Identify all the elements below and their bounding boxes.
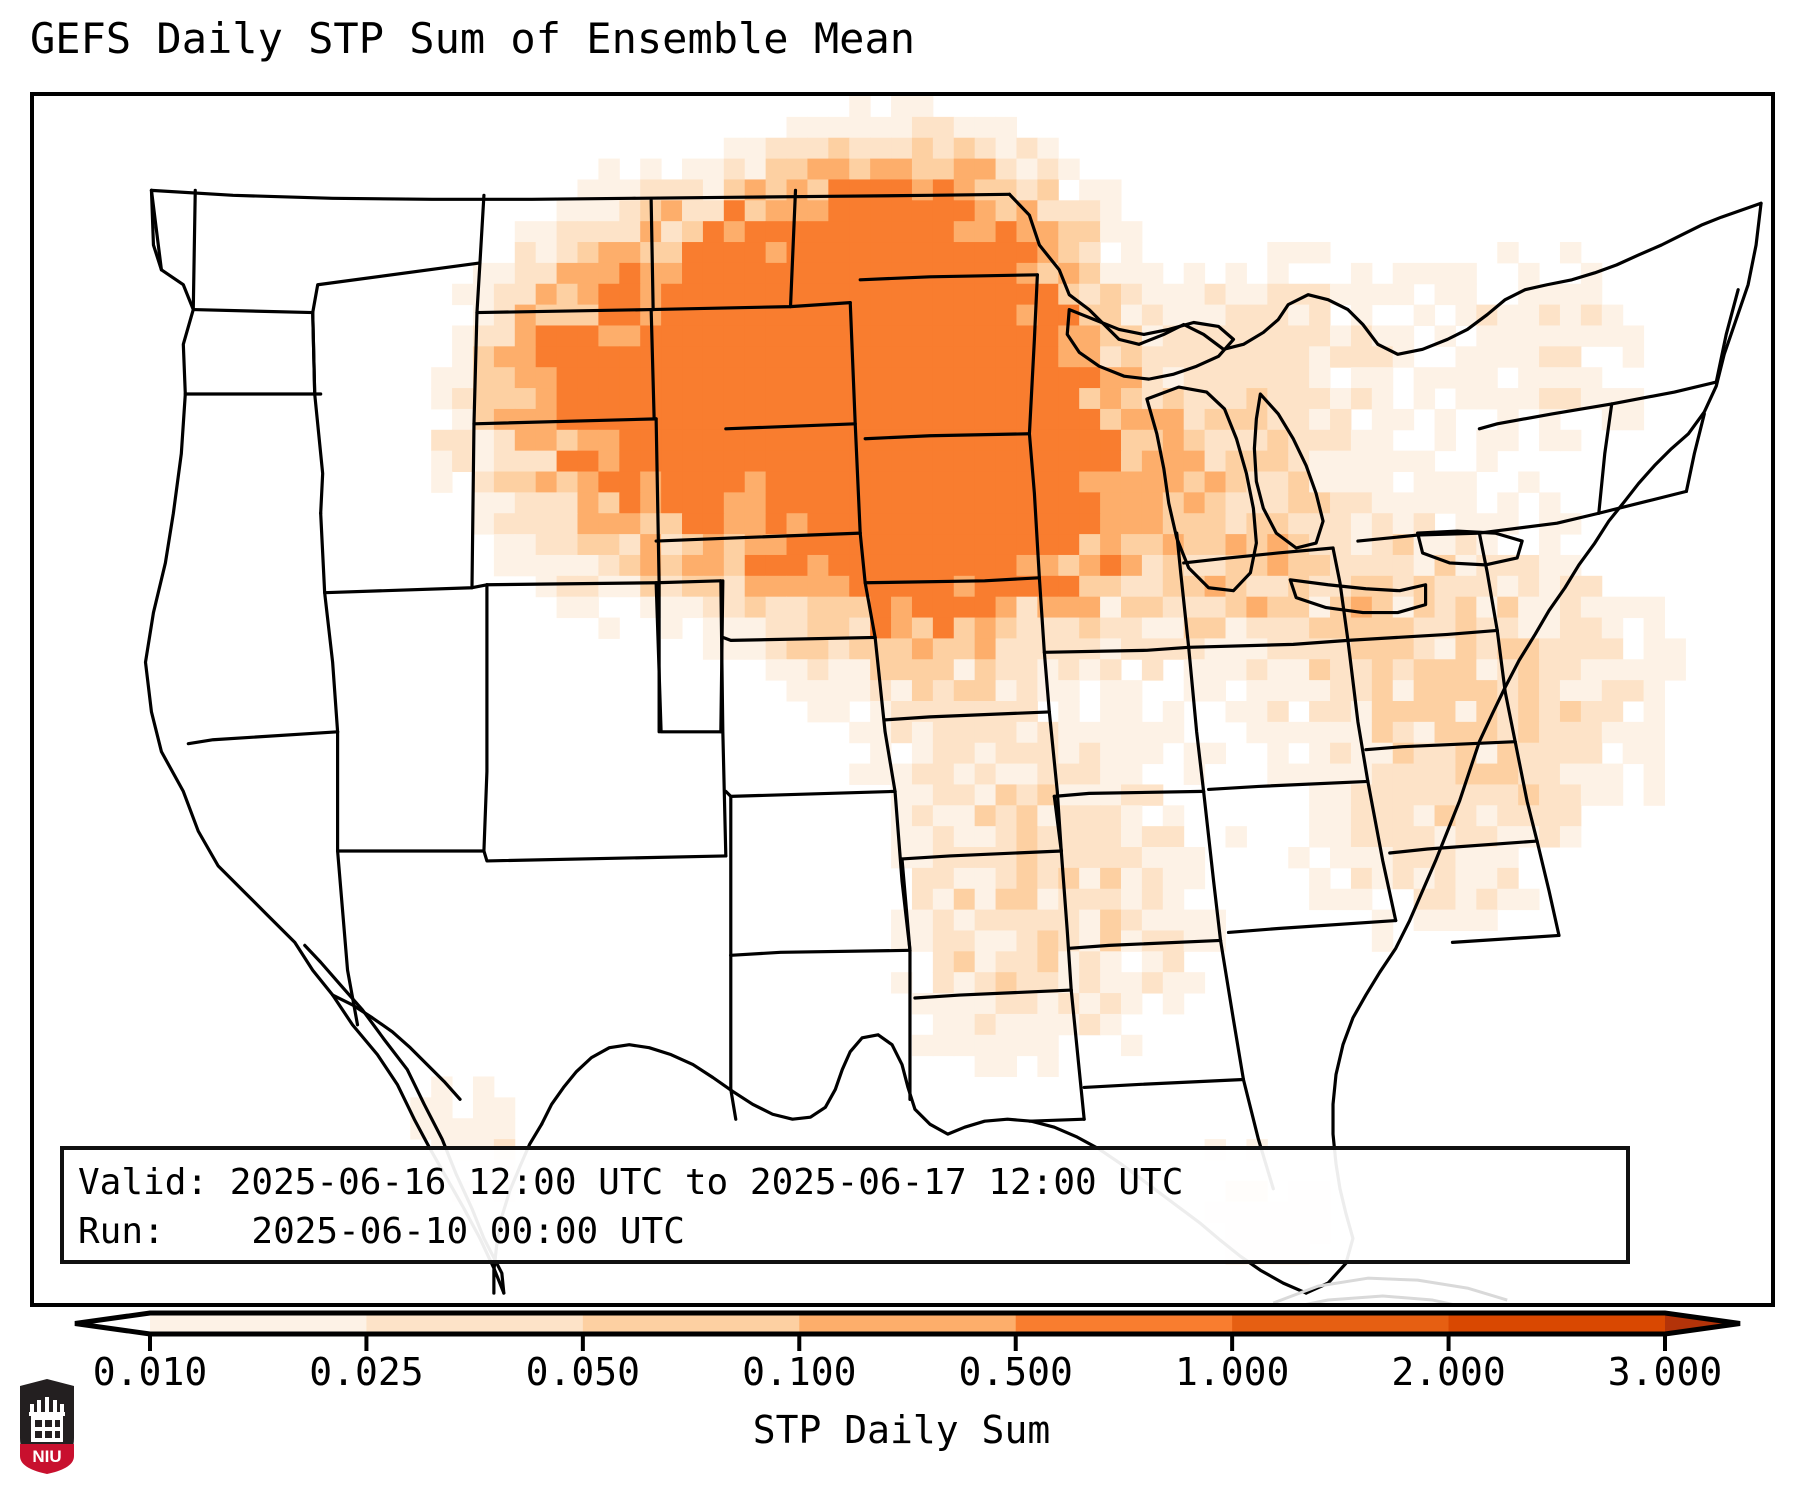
stp-grid-cell (703, 388, 724, 409)
stp-grid-cell (724, 492, 745, 513)
stp-grid-cell (1016, 826, 1037, 847)
stp-grid-cell (1121, 534, 1142, 555)
stp-grid-cell (1518, 680, 1539, 701)
stp-grid-cell (891, 826, 912, 847)
stp-grid-cell (828, 430, 849, 451)
stp-grid-cell (515, 555, 536, 576)
stp-grid-cell (891, 618, 912, 639)
stp-grid-cell (1246, 284, 1267, 305)
stp-grid-cell (598, 346, 619, 367)
colorbar-tick-label: 0.025 (309, 1349, 423, 1395)
stp-grid-cell (849, 659, 870, 680)
stp-grid-cell (1058, 492, 1079, 513)
stp-grid-cell (891, 597, 912, 618)
stp-grid-cell (1518, 346, 1539, 367)
stp-grid-cell (1414, 555, 1435, 576)
stp-grid-cell (661, 388, 682, 409)
stp-grid-cell (1037, 534, 1058, 555)
stp-grid-cell (891, 367, 912, 388)
stp-grid-cell (724, 325, 745, 346)
stp-grid-cell (661, 618, 682, 639)
stp-grid-cell (1539, 492, 1560, 513)
stp-grid-cell (1351, 492, 1372, 513)
stp-grid-cell (1246, 638, 1267, 659)
stp-grid-cell (745, 346, 766, 367)
stp-grid-cell (1079, 993, 1100, 1014)
stp-grid-cell (703, 346, 724, 367)
stp-grid-cell (1455, 576, 1476, 597)
stp-grid-cell (703, 451, 724, 472)
stp-grid-cell (933, 325, 954, 346)
stp-grid-cell (452, 409, 473, 430)
stp-grid-cell (661, 409, 682, 430)
stp-grid-cell (766, 367, 787, 388)
stp-grid-cell (975, 492, 996, 513)
stp-grid-cell (1058, 200, 1079, 221)
stp-grid-cell (1016, 638, 1037, 659)
stp-grid-cell (933, 555, 954, 576)
stp-grid-cell (912, 117, 933, 138)
stp-grid-cell (1205, 680, 1226, 701)
stp-grid-cell (1539, 701, 1560, 722)
stp-grid-cell (1372, 597, 1393, 618)
stp-grid-cell (1079, 242, 1100, 263)
stp-grid-cell (933, 200, 954, 221)
stp-grid-cell (1037, 409, 1058, 430)
stp-grid-cell (807, 472, 828, 493)
stp-grid-cell (954, 451, 975, 472)
stp-grid-cell (1393, 638, 1414, 659)
stp-grid-cell (473, 1097, 494, 1118)
stp-grid-cell (954, 242, 975, 263)
stp-grid-cell (745, 367, 766, 388)
page-title: GEFS Daily STP Sum of Ensemble Mean (30, 14, 915, 64)
stp-grid-cell (1121, 346, 1142, 367)
stp-grid-cell (1100, 472, 1121, 493)
stp-grid-cell (1560, 638, 1581, 659)
stp-grid-cell (745, 263, 766, 284)
stp-grid-cell (619, 263, 640, 284)
stp-grid-cell (1539, 325, 1560, 346)
colorbar-tick-label: 0.500 (959, 1349, 1073, 1395)
stp-grid-cell (1309, 784, 1330, 805)
stp-grid-cell (1079, 221, 1100, 242)
stp-grid-cell (1539, 305, 1560, 326)
stp-grid-cell (1476, 346, 1497, 367)
stp-grid-cell (1518, 722, 1539, 743)
stp-grid-cell (1267, 638, 1288, 659)
stp-grid-cell (494, 1118, 515, 1139)
stp-grid-cell (1351, 889, 1372, 910)
stp-grid-cell (1016, 1014, 1037, 1035)
stp-grid-cell (954, 513, 975, 534)
stp-grid-cell (598, 492, 619, 513)
stp-grid-cell (724, 451, 745, 472)
stp-grid-cell (1121, 492, 1142, 513)
stp-grid-cell (807, 346, 828, 367)
stp-grid-cell (1142, 659, 1163, 680)
stp-grid-cell (1016, 930, 1037, 951)
stp-grid-cell (933, 117, 954, 138)
stp-grid-cell (1518, 388, 1539, 409)
stp-grid-cell (807, 242, 828, 263)
stp-grid-cell (807, 659, 828, 680)
stp-grid-cell (1184, 868, 1205, 889)
stp-grid-cell (1163, 492, 1184, 513)
stp-grid-cell (807, 430, 828, 451)
stp-grid-cell (828, 409, 849, 430)
stp-grid-cell (1016, 242, 1037, 263)
stp-grid-cell (1330, 346, 1351, 367)
stp-grid-cell (891, 346, 912, 367)
stp-grid-cell (557, 472, 578, 493)
stp-grid-cell (1539, 764, 1560, 785)
stp-grid-cell (849, 96, 870, 117)
stp-grid-cell (1058, 889, 1079, 910)
stp-grid-cell (682, 451, 703, 472)
stp-grid-cell (1455, 722, 1476, 743)
stp-grid-cell (577, 242, 598, 263)
stp-grid-cell (1372, 618, 1393, 639)
stp-grid-cell (1309, 722, 1330, 743)
stp-grid-cell (577, 430, 598, 451)
stp-grid-cell (807, 555, 828, 576)
stp-grid-cell (1184, 451, 1205, 472)
stp-grid-cell (536, 513, 557, 534)
stp-grid-cell (1016, 910, 1037, 931)
stp-grid-cell (1226, 388, 1247, 409)
geo-path (313, 313, 315, 394)
stp-grid-cell (1142, 951, 1163, 972)
stp-grid-cell (996, 472, 1017, 493)
stp-grid-cell (1079, 430, 1100, 451)
stp-grid-cell (933, 868, 954, 889)
stp-grid-cell (724, 263, 745, 284)
stp-grid-cell (682, 388, 703, 409)
stp-grid-cell (1121, 826, 1142, 847)
stp-grid-cell (849, 221, 870, 242)
stp-grid-cell (1435, 430, 1456, 451)
stp-grid-cell (954, 701, 975, 722)
stp-grid-cell (1142, 784, 1163, 805)
stp-grid-cell (1184, 513, 1205, 534)
stp-grid-cell (766, 263, 787, 284)
stp-grid-cell (807, 597, 828, 618)
stp-grid-cell (598, 555, 619, 576)
stp-grid-cell (766, 555, 787, 576)
stp-grid-cell (473, 263, 494, 284)
stp-grid-cell (557, 325, 578, 346)
stp-grid-cell (828, 701, 849, 722)
stp-grid-cell (598, 513, 619, 534)
stp-grid-cell (1476, 638, 1497, 659)
stp-grid-cell (1100, 576, 1121, 597)
stp-grid-cell (703, 221, 724, 242)
stp-grid-cell (1079, 868, 1100, 889)
stp-grid-cell (682, 200, 703, 221)
stp-grid-cell (870, 638, 891, 659)
stp-grid-cell (996, 1056, 1017, 1077)
stp-grid-cell (975, 951, 996, 972)
stp-grid-cell (1037, 910, 1058, 931)
stp-grid-cell (828, 680, 849, 701)
stp-grid-cell (1330, 722, 1351, 743)
stp-grid-cell (1644, 618, 1665, 639)
stp-grid-cell (1602, 618, 1623, 639)
colorbar-tick-label: 2.000 (1391, 1349, 1505, 1395)
stp-grid-cell (1163, 993, 1184, 1014)
stp-grid-cell (954, 910, 975, 931)
stp-grid-cell (807, 200, 828, 221)
stp-grid-cell (682, 346, 703, 367)
stp-grid-cell (1309, 555, 1330, 576)
stp-grid-cell (1644, 743, 1665, 764)
stp-grid-cell (996, 680, 1017, 701)
stp-grid-cell (1351, 534, 1372, 555)
stp-grid-cell (1644, 701, 1665, 722)
stp-grid-cell (975, 555, 996, 576)
stp-grid-cell (933, 430, 954, 451)
stp-grid-cell (1623, 659, 1644, 680)
stp-grid-cell (1121, 993, 1142, 1014)
stp-grid-cell (1539, 388, 1560, 409)
stp-grid-cell (912, 555, 933, 576)
stp-grid-cell (1100, 1014, 1121, 1035)
stp-grid-cell (1142, 722, 1163, 743)
stp-grid-cell (1393, 513, 1414, 534)
stp-grid-cell (1058, 659, 1079, 680)
stp-grid-cell (1351, 472, 1372, 493)
stp-grid-cell (703, 200, 724, 221)
stp-grid-cell (1476, 325, 1497, 346)
stp-grid-cell (1267, 555, 1288, 576)
stp-grid-cell (1288, 325, 1309, 346)
stp-grid-cell (787, 513, 808, 534)
stp-grid-cell (1372, 638, 1393, 659)
stp-grid-cell (1058, 618, 1079, 639)
stp-grid-cell (996, 868, 1017, 889)
stp-grid-cell (787, 451, 808, 472)
stp-grid-cell (933, 263, 954, 284)
stp-grid-cell (787, 492, 808, 513)
stp-grid-cell (1623, 597, 1644, 618)
stp-grid-cell (1309, 367, 1330, 388)
stp-grid-cell (1539, 659, 1560, 680)
stp-grid-cell (598, 242, 619, 263)
stp-grid-cell (1016, 784, 1037, 805)
stp-grid-cell (975, 701, 996, 722)
stp-grid-cell (1079, 179, 1100, 200)
stp-grid-cell (870, 451, 891, 472)
stp-grid-cell (1079, 951, 1100, 972)
stp-grid-cell (577, 534, 598, 555)
stp-grid-cell (933, 1035, 954, 1056)
stp-grid-cell (661, 513, 682, 534)
stp-grid-cell (1309, 242, 1330, 263)
stp-grid-cell (577, 221, 598, 242)
stp-grid-cell (1079, 367, 1100, 388)
stp-grid-cell (1016, 1035, 1037, 1056)
stp-grid-cell (933, 346, 954, 367)
stp-grid-cell (1476, 868, 1497, 889)
stp-grid-cell (996, 972, 1017, 993)
stp-grid-cell (515, 263, 536, 284)
stp-grid-cell (1058, 430, 1079, 451)
stp-grid-cell (787, 638, 808, 659)
stp-grid-cell (1163, 847, 1184, 868)
stp-grid-cell (1016, 179, 1037, 200)
stp-grid-cell (682, 409, 703, 430)
stp-grid-cell (703, 492, 724, 513)
stp-grid-cell (1372, 930, 1393, 951)
stp-grid-cell (661, 242, 682, 263)
stp-grid-cell (996, 805, 1017, 826)
stp-grid-cell (1163, 722, 1184, 743)
stp-grid-cell (891, 659, 912, 680)
stp-grid-cell (1476, 889, 1497, 910)
stp-grid-cell (724, 597, 745, 618)
stp-grid-cell (975, 534, 996, 555)
stp-grid-cell (619, 305, 640, 326)
stp-grid-cell (1100, 409, 1121, 430)
stp-grid-cell (912, 638, 933, 659)
colorbar-band (150, 1313, 367, 1334)
stp-grid-cell (1372, 784, 1393, 805)
stp-grid-cell (891, 138, 912, 159)
stp-grid-cell (431, 451, 452, 472)
stp-grid-cell (1372, 743, 1393, 764)
stp-grid-cell (1393, 555, 1414, 576)
stp-grid-cell (912, 534, 933, 555)
stp-grid-cell (1351, 513, 1372, 534)
stp-grid-cell (1351, 868, 1372, 889)
stp-grid-cell (1539, 680, 1560, 701)
stp-grid-cell (1246, 659, 1267, 680)
stp-grid-cell (1330, 889, 1351, 910)
stp-grid-cell (1267, 597, 1288, 618)
stp-grid-cell (1435, 409, 1456, 430)
stp-grid-cell (452, 284, 473, 305)
stp-grid-cell (1163, 430, 1184, 451)
stp-grid-cell (1539, 430, 1560, 451)
stp-grid-cell (912, 1035, 933, 1056)
stp-grid-cell (1330, 325, 1351, 346)
stp-grid-cell (1372, 659, 1393, 680)
stp-grid-cell (1079, 284, 1100, 305)
stp-grid-cell (473, 1118, 494, 1139)
stp-grid-cell (870, 472, 891, 493)
stp-grid-cell (619, 388, 640, 409)
stp-grid-cell (619, 555, 640, 576)
stp-grid-cell (1079, 1014, 1100, 1035)
stp-grid-cell (870, 722, 891, 743)
stp-grid-cell (494, 305, 515, 326)
stp-grid-cell (975, 138, 996, 159)
stp-grid-cell (1476, 451, 1497, 472)
stp-grid-cell (1309, 430, 1330, 451)
stp-grid-cell (1100, 868, 1121, 889)
stp-grid-cell (954, 492, 975, 513)
stp-grid-cell (515, 534, 536, 555)
stp-grid-cell (1560, 513, 1581, 534)
stp-grid-cell (912, 805, 933, 826)
stp-grid-cell (1288, 472, 1309, 493)
stp-grid-cell (1226, 513, 1247, 534)
stp-grid-cell (954, 367, 975, 388)
stp-grid-cell (1309, 346, 1330, 367)
stp-grid-cell (536, 388, 557, 409)
stp-grid-cell (1205, 534, 1226, 555)
stp-grid-cell (598, 284, 619, 305)
stp-grid-cell (1058, 910, 1079, 931)
stp-grid-cell (787, 367, 808, 388)
stp-grid-cell (1288, 492, 1309, 513)
stp-grid-cell (870, 325, 891, 346)
stp-grid-cell (1121, 1035, 1142, 1056)
stp-grid-cell (1205, 597, 1226, 618)
stp-grid-cell (1016, 847, 1037, 868)
stp-grid-cell (1644, 722, 1665, 743)
stp-grid-cell (933, 576, 954, 597)
stp-grid-cell (724, 284, 745, 305)
stp-grid-cell (1205, 284, 1226, 305)
stp-grid-cell (1037, 346, 1058, 367)
stp-grid-cell (1205, 492, 1226, 513)
stp-grid-cell (431, 367, 452, 388)
stp-grid-cell (912, 576, 933, 597)
stp-grid-cell (1455, 659, 1476, 680)
stp-grid-cell (1226, 826, 1247, 847)
stp-grid-cell (577, 367, 598, 388)
stp-grid-cell (1226, 638, 1247, 659)
stp-grid-cell (996, 388, 1017, 409)
stp-grid-cell (619, 472, 640, 493)
stp-grid-cell (1058, 764, 1079, 785)
stp-grid-cell (1226, 305, 1247, 326)
stp-grid-cell (996, 910, 1017, 931)
stp-grid-cell (473, 492, 494, 513)
stp-grid-cell (766, 138, 787, 159)
stp-grid-cell (828, 492, 849, 513)
stp-grid-cell (1079, 492, 1100, 513)
stp-grid-cell (1602, 764, 1623, 785)
stp-grid-cell (661, 284, 682, 305)
stp-grid-cell (766, 242, 787, 263)
colorbar-band (583, 1313, 800, 1334)
stp-grid-cell (640, 430, 661, 451)
stp-grid-cell (1393, 263, 1414, 284)
stp-grid-cell (870, 159, 891, 180)
stp-grid-cell (682, 555, 703, 576)
stp-grid-cell (1581, 659, 1602, 680)
stp-grid-cell (912, 826, 933, 847)
stp-grid-cell (1560, 367, 1581, 388)
stp-grid-cell (1058, 555, 1079, 576)
stp-grid-cell (787, 325, 808, 346)
stp-grid-cell (557, 492, 578, 513)
stp-grid-cell (1539, 638, 1560, 659)
stp-grid-cell (494, 430, 515, 451)
stp-grid-cell (515, 305, 536, 326)
stp-grid-cell (1518, 325, 1539, 346)
stp-grid-cell (598, 534, 619, 555)
stp-grid-cell (766, 159, 787, 180)
stp-grid-cell (452, 346, 473, 367)
stp-grid-cell (1079, 576, 1100, 597)
stp-grid-cell (1121, 847, 1142, 868)
stp-grid-cell (870, 764, 891, 785)
stp-grid-cell (745, 200, 766, 221)
